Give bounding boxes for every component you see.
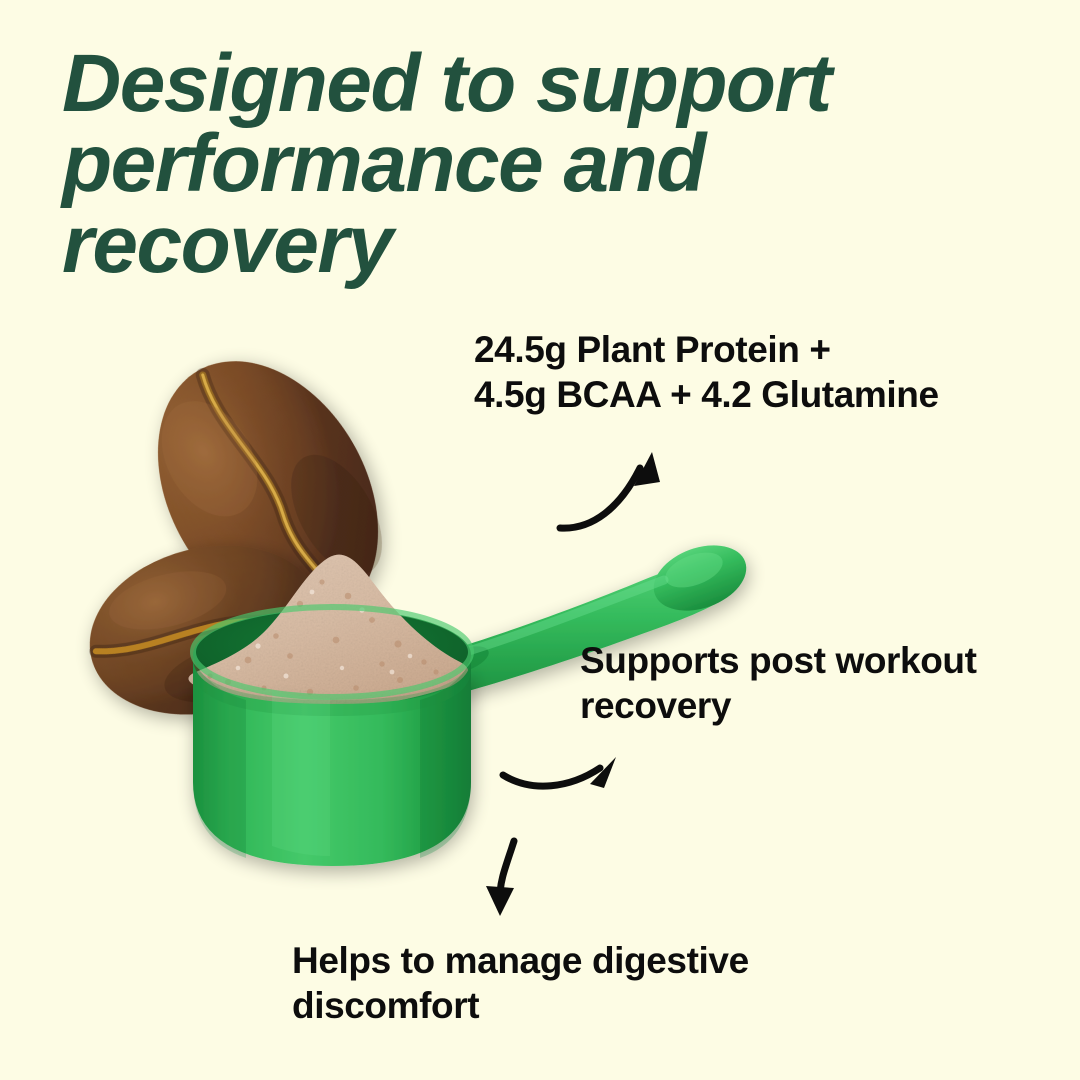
arrow-to-protein-icon <box>560 452 660 528</box>
promo-graphic-canvas: Designed to support performance and reco… <box>0 0 1080 1080</box>
scoop-rim <box>193 607 471 697</box>
callout-protein-content: 24.5g Plant Protein + 4.5g BCAA + 4.2 Gl… <box>474 327 1014 417</box>
protein-powder-mound <box>189 555 469 710</box>
coffee-bean-back-icon <box>113 322 423 662</box>
arrow-to-recovery-icon <box>503 757 616 788</box>
arrow-to-digestive-icon <box>486 841 514 916</box>
callout-recovery-support: Supports post workout recovery <box>580 638 1060 728</box>
coffee-bean-front-icon <box>72 522 341 738</box>
scoop-opening <box>193 609 471 701</box>
scoop-cup <box>193 630 471 866</box>
callout-digestive-comfort: Helps to manage digestive discomfort <box>292 938 872 1028</box>
page-title: Designed to support performance and reco… <box>62 44 962 285</box>
